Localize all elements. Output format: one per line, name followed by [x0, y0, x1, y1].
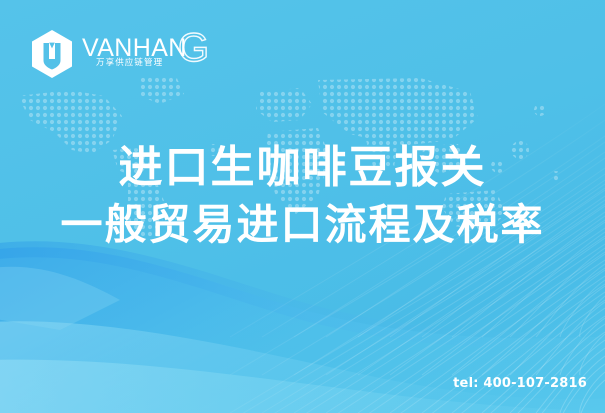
contact-phone[interactable]: tel: 400-107-2816	[453, 376, 587, 391]
promo-banner: VANHAN G 万享供应链管理 进口生咖啡豆报关 一般贸易进口流程及税率	[0, 0, 605, 413]
diagonal-line-texture	[0, 0, 605, 413]
